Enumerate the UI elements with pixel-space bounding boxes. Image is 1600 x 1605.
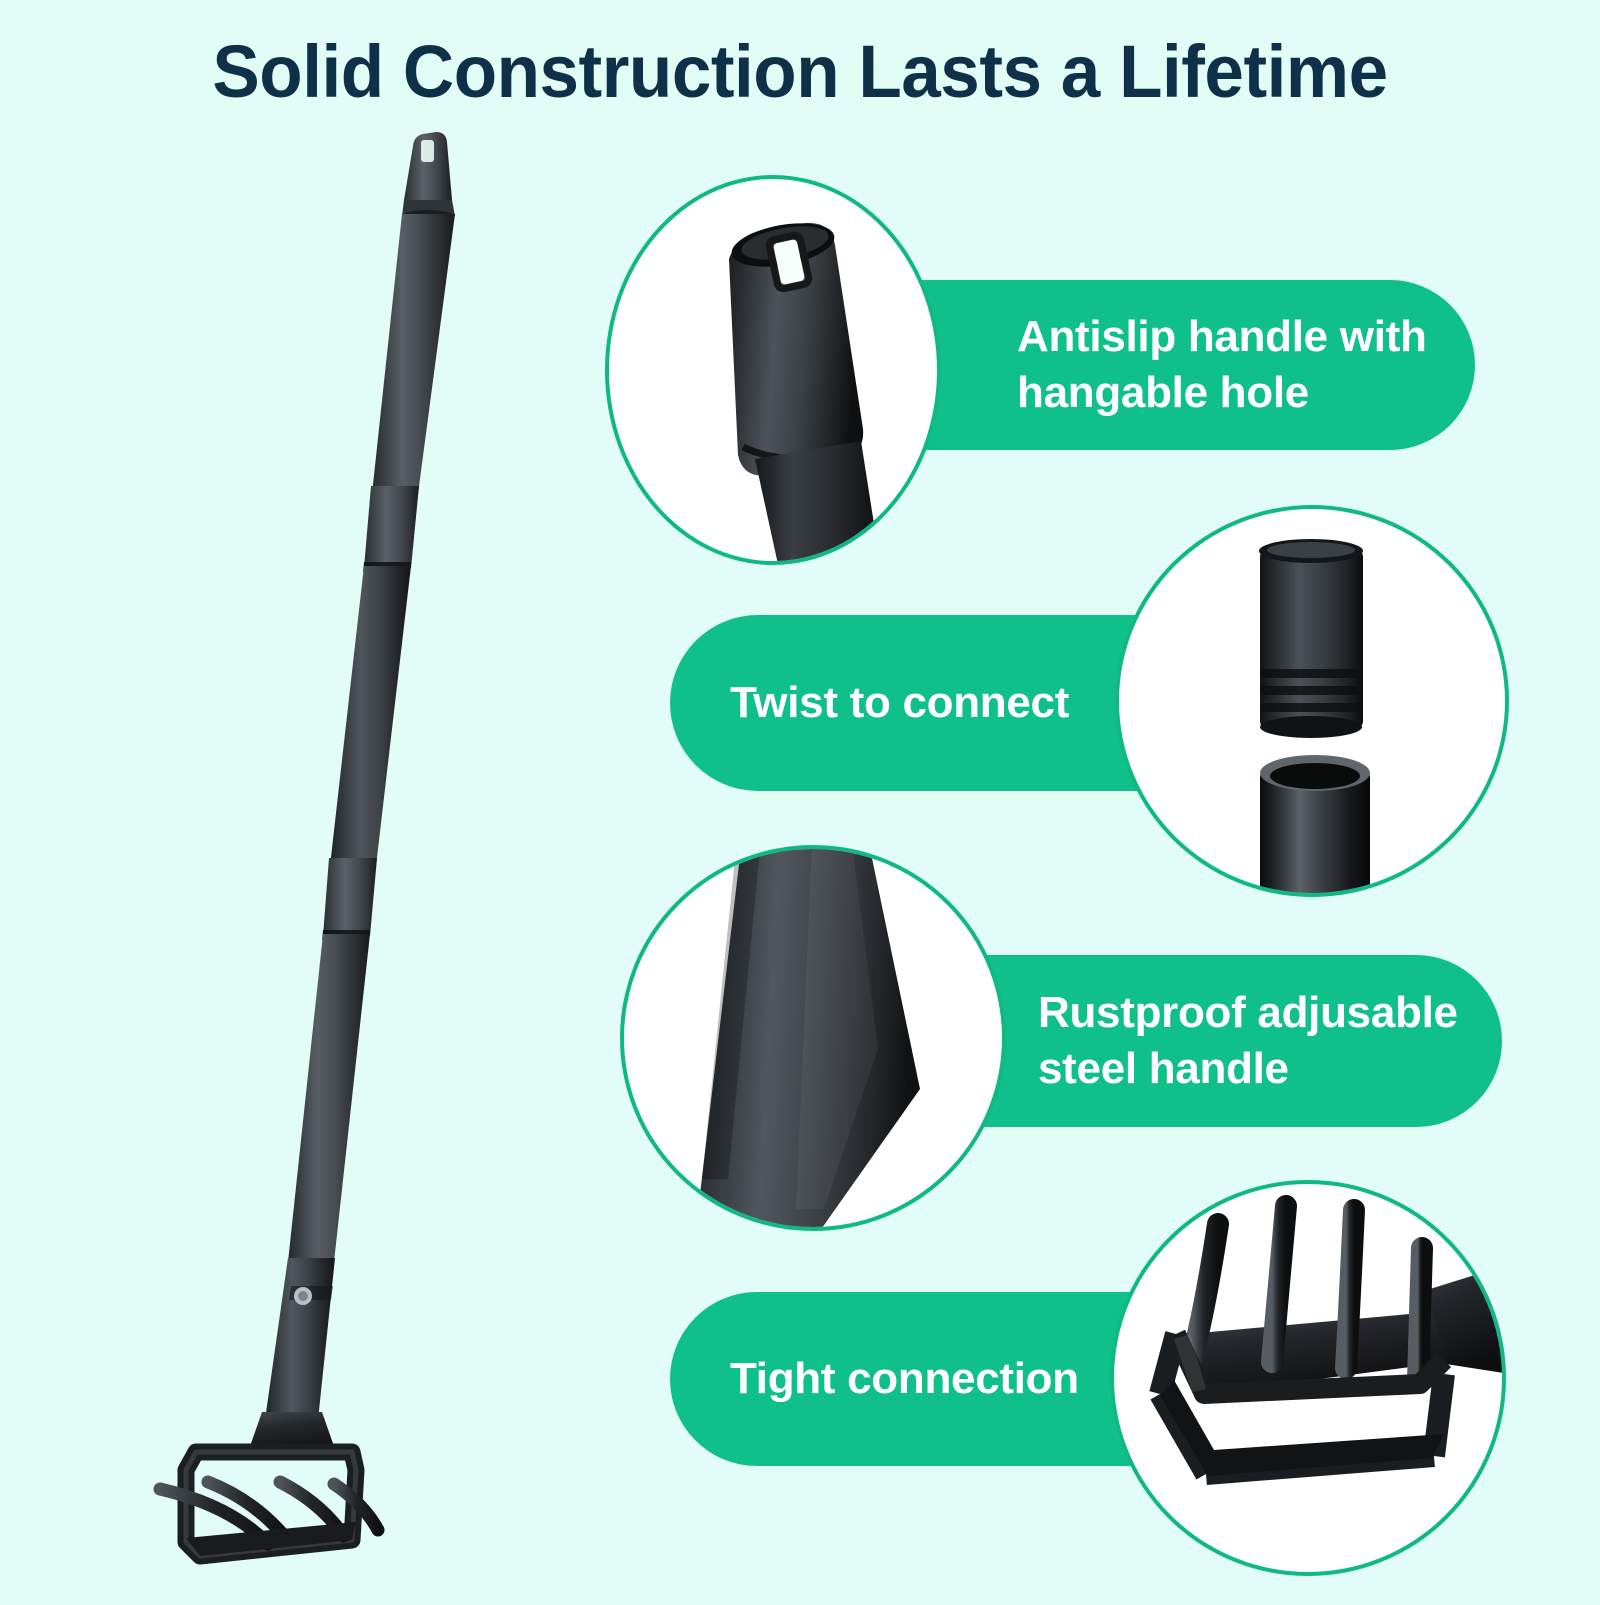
callout-label-text: Antislip handle with hangable hole (1017, 309, 1433, 421)
hoe-head (160, 1412, 378, 1556)
callout-image-rustproof-steel-handle (620, 845, 1006, 1231)
shaft-collar-lower (322, 858, 377, 940)
callout-image-twist-to-connect (1115, 505, 1509, 897)
callout-image-antislip-handle (605, 175, 941, 565)
callout-label-text: Twist to connect (730, 675, 1069, 731)
hoe-head-closeup-photo (1114, 1184, 1506, 1576)
callout-label-twist-to-connect: Twist to connect (670, 615, 1156, 791)
head-socket-ferrule (265, 1258, 335, 1420)
steel-shaft-closeup-photo (624, 849, 1006, 1231)
shaft-collar-upper (363, 486, 419, 572)
callout-image-tight-connection (1110, 1180, 1506, 1576)
shaft-segment-lower (288, 934, 370, 1262)
infographic-canvas: Solid Construction Lasts a Lifetime (0, 0, 1600, 1600)
product-illustration (0, 0, 620, 1600)
callout-label-antislip-handle: Antislip handle with hangable hole (905, 280, 1475, 450)
twist-connector-photo (1119, 509, 1509, 897)
callout-label-tight-connection: Tight connection (670, 1292, 1162, 1466)
shaft-segment-middle (330, 566, 411, 866)
callout-label-text: Tight connection (730, 1351, 1079, 1407)
callout-label-text: Rustproof adjusable steel handle (1038, 985, 1462, 1097)
handle-top-grip (402, 132, 455, 222)
product-hero-image (0, 0, 620, 1600)
shaft-segment-upper (372, 214, 455, 494)
handle-top-photo (609, 179, 941, 565)
callout-label-rustproof-steel-handle: Rustproof adjusable steel handle (930, 955, 1502, 1127)
